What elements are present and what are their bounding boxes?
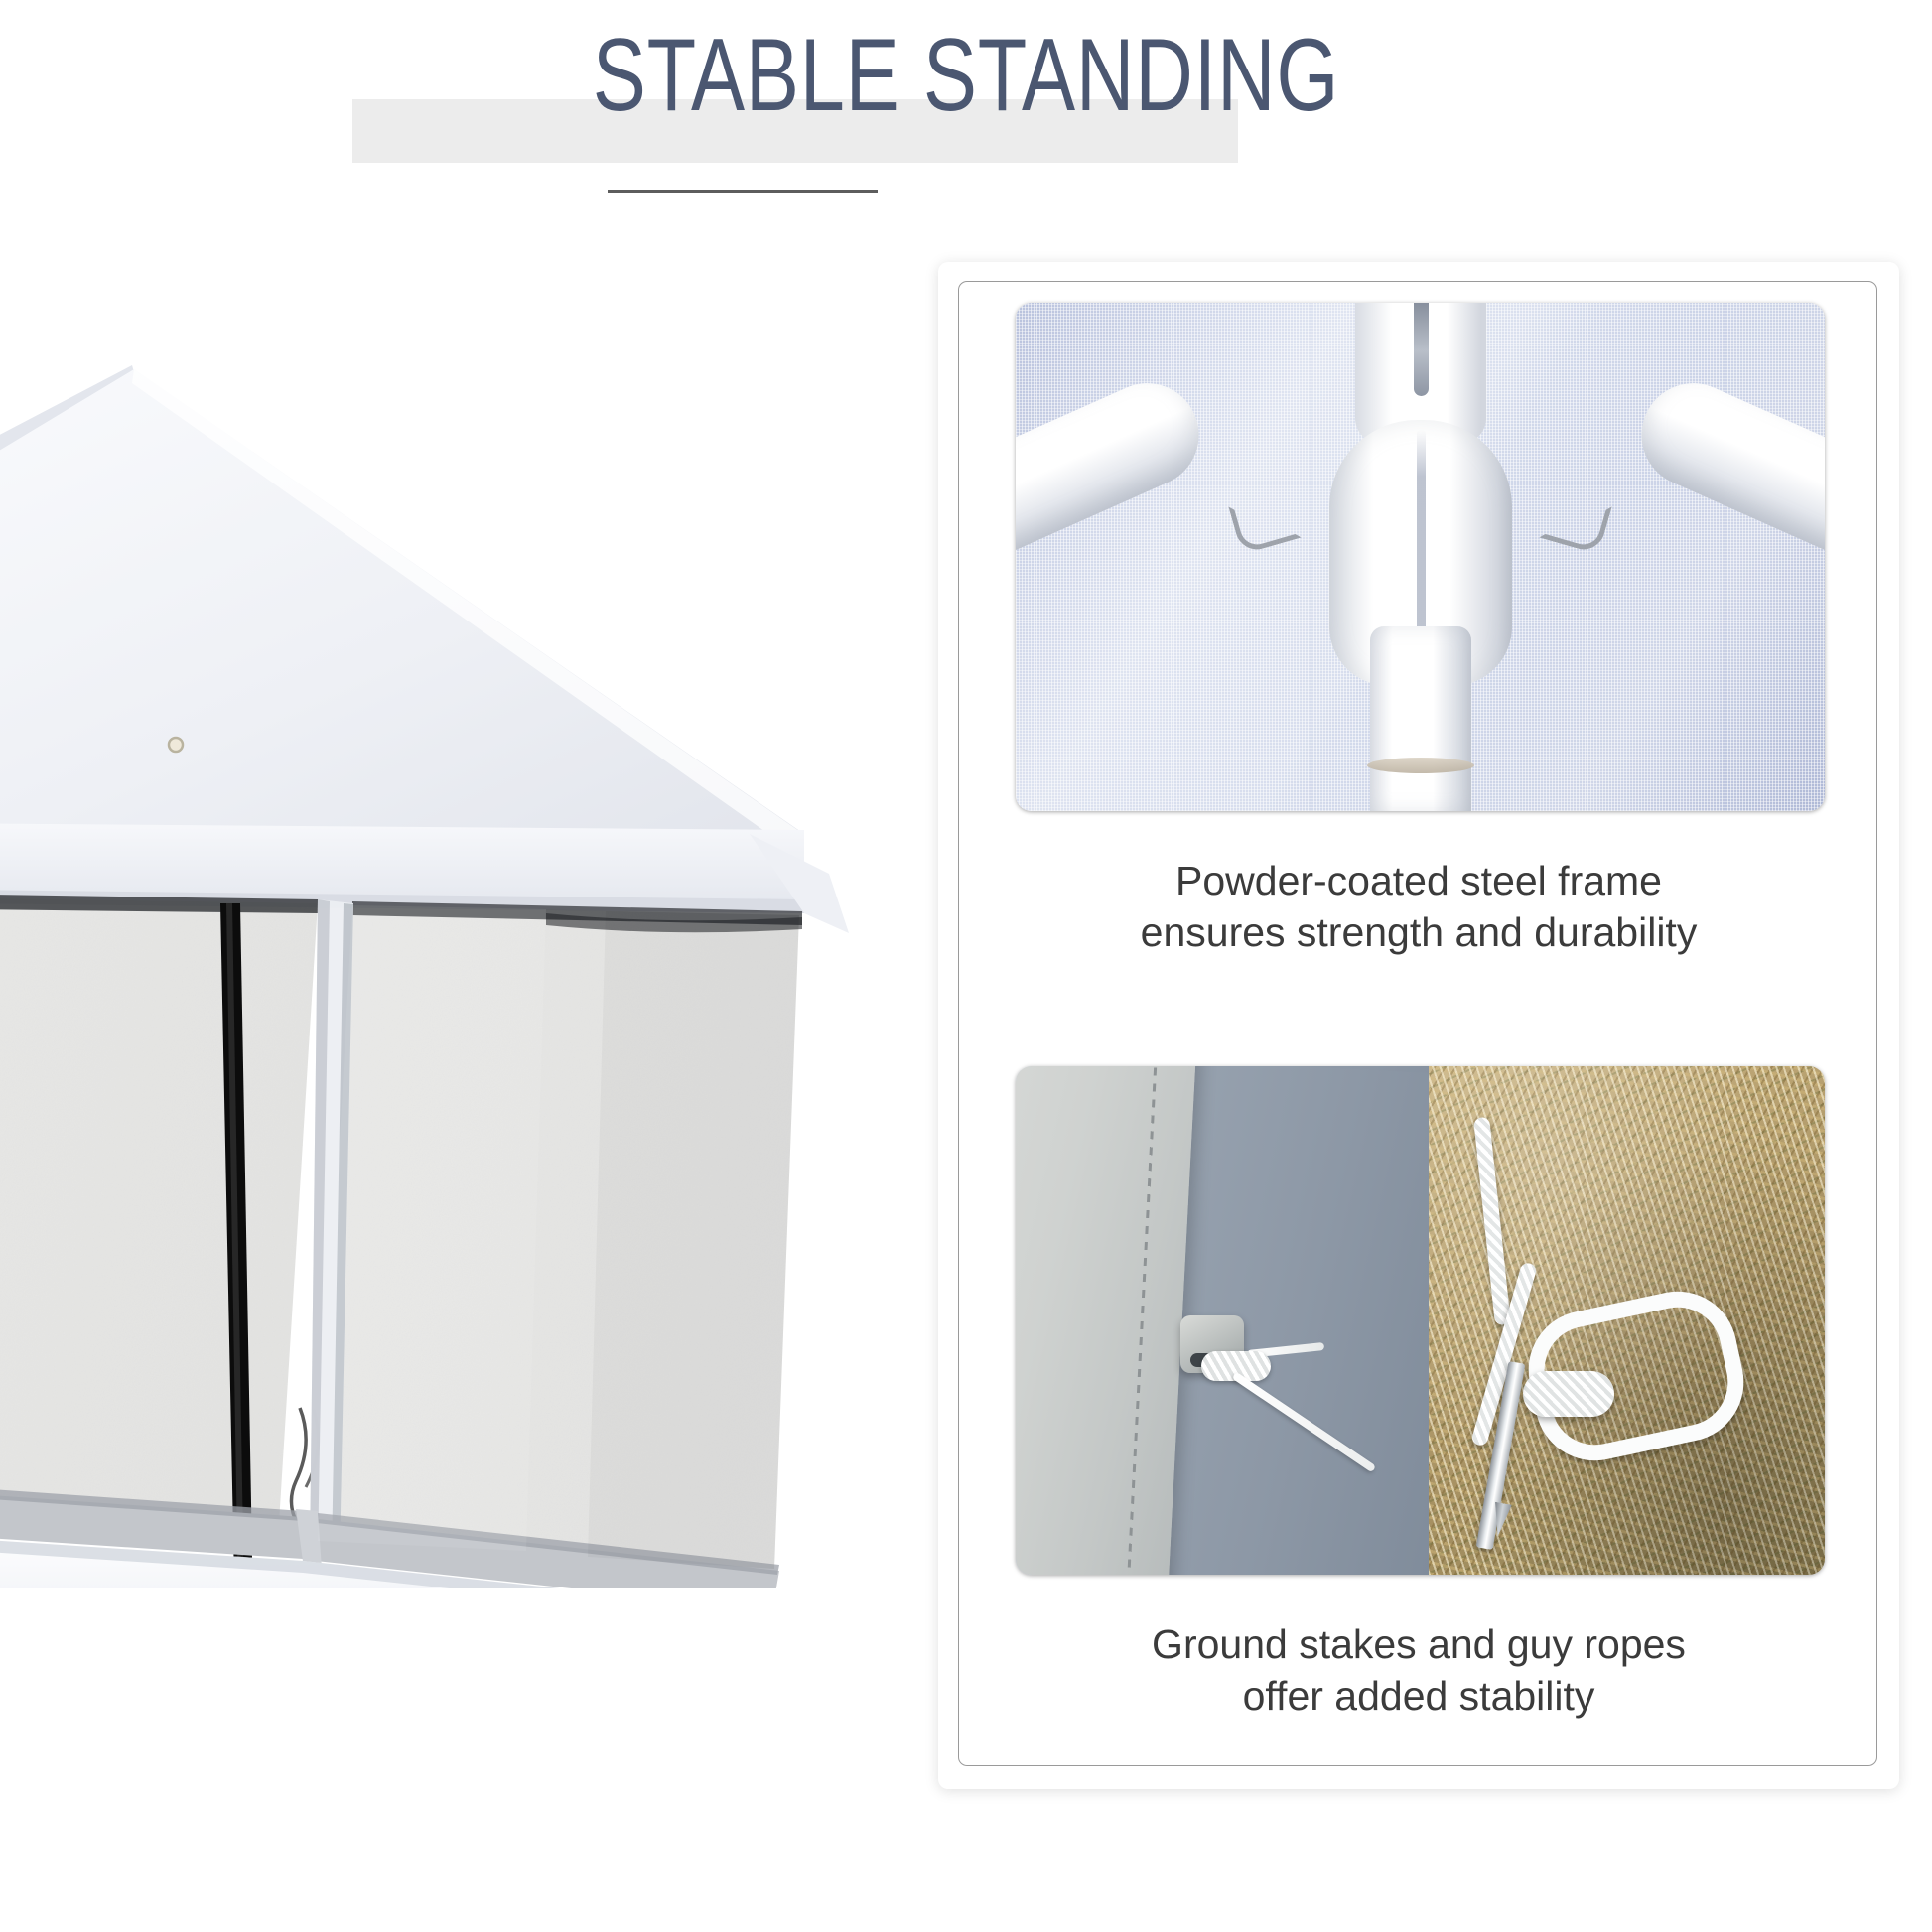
photo-frame-stakes-ropes <box>1016 1066 1825 1575</box>
ground-rope-knot <box>1523 1371 1614 1417</box>
feature-panel: Powder-coated steel frame ensures streng… <box>938 262 1899 1789</box>
hub-pole-collar <box>1367 758 1474 773</box>
infographic-canvas: STABLE STANDING <box>0 0 1932 1932</box>
hub-arm-right <box>1625 366 1825 594</box>
gazebo-illustration <box>0 278 963 1588</box>
hub-arm-left <box>1016 366 1215 594</box>
feature-panel-border: Powder-coated steel frame ensures streng… <box>958 281 1877 1766</box>
feature-caption-frame-line2: ensures strength and durability <box>999 906 1839 958</box>
hub-top-slot <box>1414 303 1429 396</box>
hub-hook-left-icon <box>1228 489 1301 554</box>
photo-ground-stake-in-grass <box>1429 1066 1825 1575</box>
hub-connector <box>1016 303 1825 811</box>
product-photo-gazebo <box>0 278 963 1588</box>
photo-frame-hub-connector <box>1016 303 1825 811</box>
page-title: STABLE STANDING <box>212 24 1720 127</box>
feature-caption-stakes-line1: Ground stakes and guy ropes <box>999 1618 1839 1670</box>
feature-caption-frame: Powder-coated steel frame ensures streng… <box>999 855 1839 958</box>
photo-guy-rope-attachment <box>1016 1066 1429 1575</box>
hub-lower-pole <box>1370 626 1471 811</box>
hub-hook-right-icon <box>1539 489 1611 554</box>
feature-caption-stakes-line2: offer added stability <box>999 1670 1839 1722</box>
feature-caption-stakes: Ground stakes and guy ropes offer added … <box>999 1618 1839 1722</box>
split-photo <box>1016 1066 1825 1575</box>
title-divider <box>608 190 878 193</box>
feature-caption-frame-line1: Powder-coated steel frame <box>999 855 1839 906</box>
canopy-panel-lit <box>1016 1066 1196 1575</box>
